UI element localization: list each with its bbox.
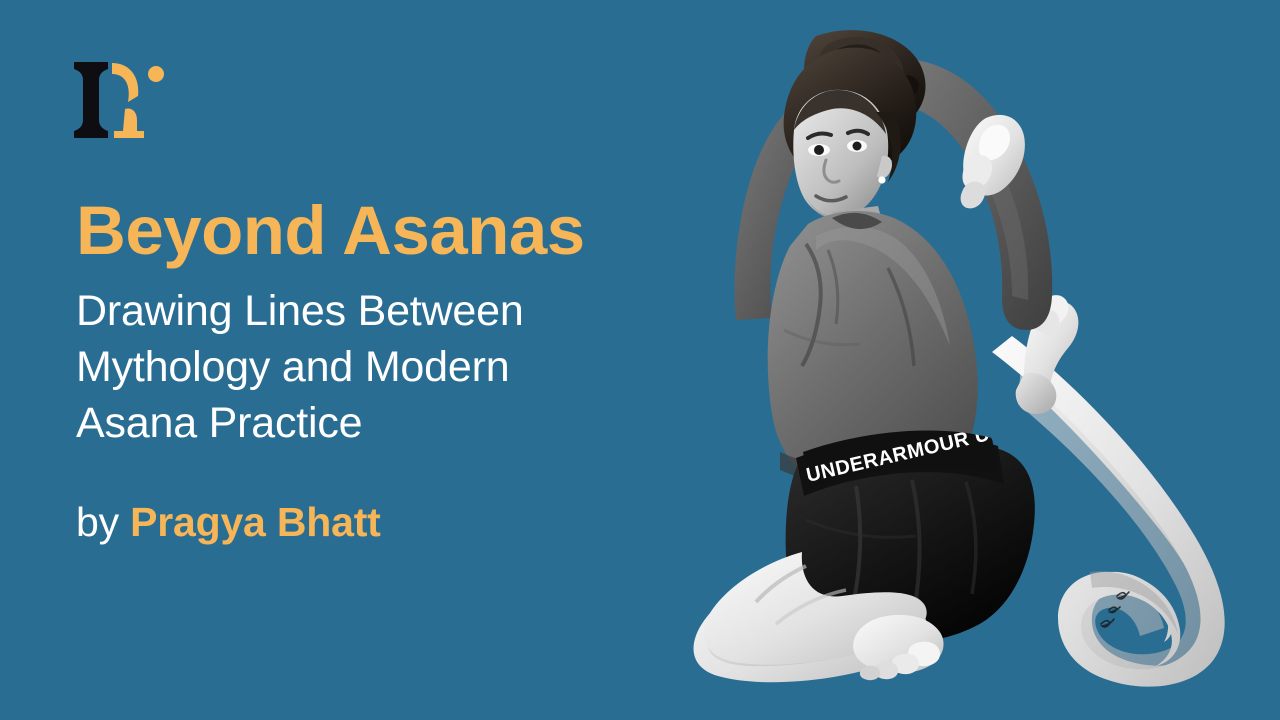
- yoga-pose-photo: UNDERARMOUR UNDERARMOUR: [620, 0, 1280, 720]
- subtitle-line-1: Drawing Lines Between: [76, 283, 696, 339]
- logo-hook-icon: [112, 63, 138, 102]
- brand-logo[interactable]: [68, 58, 168, 144]
- subtitle-line-3: Asana Practice: [76, 395, 696, 451]
- front-foot: [853, 615, 943, 680]
- byline-author: Pragya Bhatt: [130, 499, 381, 545]
- subtitle-line-2: Mythology and Modern: [76, 339, 696, 395]
- byline: by Pragya Bhatt: [76, 500, 696, 545]
- title-block: Beyond Asanas Drawing Lines Between Myth…: [76, 196, 696, 545]
- logo-base-icon: [114, 109, 144, 138]
- logo-stem-icon: [74, 62, 108, 138]
- subtitle: Drawing Lines Between Mythology and Mode…: [76, 283, 696, 451]
- head: [784, 48, 917, 220]
- logo-dot-icon: [148, 66, 164, 82]
- presentation-slide: Beyond Asanas Drawing Lines Between Myth…: [0, 0, 1280, 720]
- byline-prefix: by: [76, 499, 130, 545]
- page-title: Beyond Asanas: [76, 196, 696, 265]
